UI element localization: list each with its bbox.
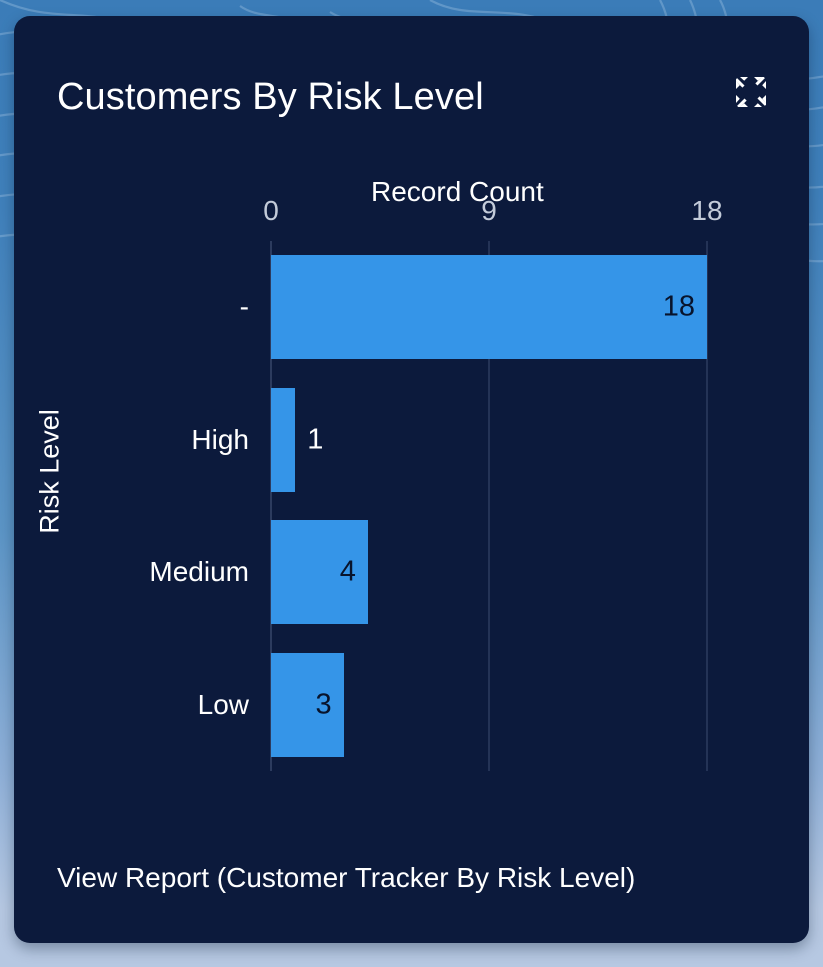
dashboard-card: Customers By Risk Level Record Count Ris…: [14, 16, 809, 943]
bar-row[interactable]: 3Low: [271, 653, 707, 757]
x-tick-label: 9: [481, 195, 497, 227]
bar-row[interactable]: 18-: [271, 255, 707, 359]
bar-value-label: 4: [271, 556, 368, 589]
bar-value-label: 18: [271, 291, 707, 324]
y-category-label: Medium: [149, 556, 249, 588]
y-category-label: High: [191, 424, 249, 456]
bar[interactable]: [271, 388, 295, 492]
y-category-label: Low: [198, 689, 249, 721]
bar-row[interactable]: 1High: [271, 388, 707, 492]
bar-value-label: 3: [271, 688, 344, 721]
bar-chart: Record Count Risk Level 091818-1High4Med…: [14, 156, 809, 836]
x-tick-label: 0: [263, 195, 279, 227]
x-axis-title: Record Count: [14, 176, 809, 208]
plot-region: 091818-1High4Medium3Low: [271, 241, 707, 771]
expand-arrows-glyph: [736, 77, 766, 107]
expand-arrows-icon[interactable]: [731, 72, 771, 112]
bar-row[interactable]: 4Medium: [271, 520, 707, 624]
view-report-link[interactable]: View Report (Customer Tracker By Risk Le…: [57, 862, 635, 894]
bar-value-label: 1: [307, 423, 323, 456]
y-category-label: -: [240, 291, 249, 323]
y-axis-title: Risk Level: [35, 392, 66, 552]
x-tick-label: 18: [691, 195, 722, 227]
page-title: Customers By Risk Level: [57, 76, 484, 119]
